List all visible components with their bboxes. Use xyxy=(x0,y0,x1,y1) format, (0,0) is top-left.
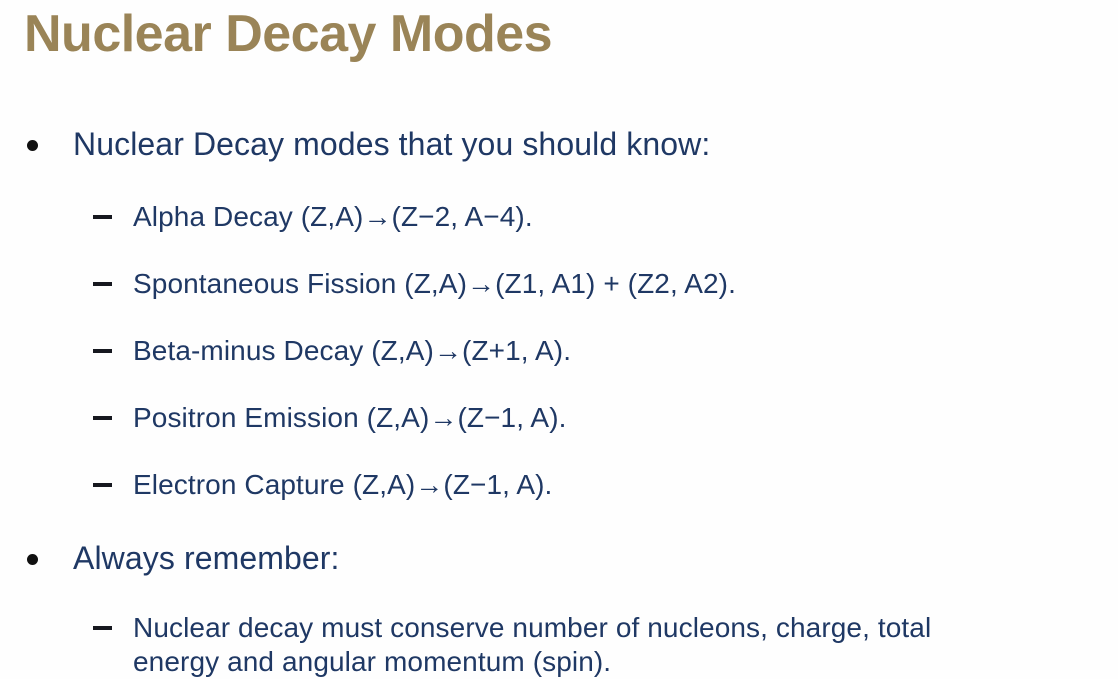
sub-bullet-item-alpha-decay: Alpha Decay (Z,A)→(Z−2, A−4). xyxy=(0,200,1118,234)
sub-bullet-label: Electron Capture (Z,A)→(Z−1, A). xyxy=(133,469,552,500)
sub-bullet-item-beta-minus-decay: Beta-minus Decay (Z,A)→(Z+1, A). xyxy=(0,334,1118,368)
dash-bullet-icon xyxy=(93,349,112,353)
sub-bullet-item-spontaneous-fission: Spontaneous Fission (Z,A)→(Z1, A1) + (Z2… xyxy=(0,267,1118,301)
sub-bullet-item-conservation-rule: Nuclear decay must conserve number of nu… xyxy=(0,611,1118,645)
sub-bullet-item-conservation-rule-wrap: energy and angular momentum (spin). xyxy=(0,645,1118,679)
dash-bullet-icon xyxy=(93,626,112,630)
bullet-item-always-remember-heading: Always remember: xyxy=(0,538,1118,578)
bullet-label: Nuclear Decay modes that you should know… xyxy=(73,126,710,162)
bullet-dot-icon xyxy=(27,554,38,565)
bullet-label: Always remember: xyxy=(73,540,340,576)
slide-canvas: Nuclear Decay Modes Nuclear Decay modes … xyxy=(0,0,1118,663)
bullet-item-decay-modes-heading: Nuclear Decay modes that you should know… xyxy=(0,124,1118,164)
slide-body: Nuclear Decay modes that you should know… xyxy=(0,124,1118,679)
dash-bullet-icon xyxy=(93,282,112,286)
sub-bullet-item-positron-emission: Positron Emission (Z,A)→(Z−1, A). xyxy=(0,401,1118,435)
sub-bullet-label: Positron Emission (Z,A)→(Z−1, A). xyxy=(133,402,567,433)
sub-bullet-label: Spontaneous Fission (Z,A)→(Z1, A1) + (Z2… xyxy=(133,268,736,299)
sub-bullet-group-decay-modes: Alpha Decay (Z,A)→(Z−2, A−4). Spontaneou… xyxy=(0,200,1118,502)
page-title: Nuclear Decay Modes xyxy=(24,2,552,66)
dash-bullet-icon xyxy=(93,215,112,219)
sub-bullet-label-line-1: Nuclear decay must conserve number of nu… xyxy=(133,612,931,643)
sub-bullet-label-line-2: energy and angular momentum (spin). xyxy=(133,646,611,677)
dash-bullet-icon xyxy=(93,416,112,420)
sub-bullet-item-electron-capture: Electron Capture (Z,A)→(Z−1, A). xyxy=(0,468,1118,502)
bullet-dot-icon xyxy=(27,140,38,151)
sub-bullet-group-always-remember: Nuclear decay must conserve number of nu… xyxy=(0,611,1118,679)
dash-bullet-icon xyxy=(93,483,112,487)
sub-bullet-label: Alpha Decay (Z,A)→(Z−2, A−4). xyxy=(133,201,533,232)
sub-bullet-label: Beta-minus Decay (Z,A)→(Z+1, A). xyxy=(133,335,571,366)
